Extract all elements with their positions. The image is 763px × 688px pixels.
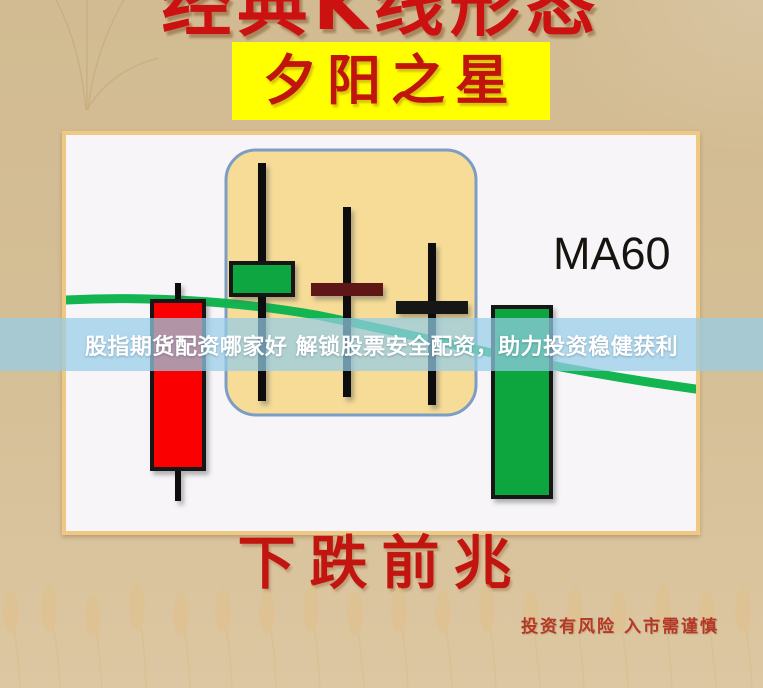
overlay-caption-text: 股指期货配资哪家好 解锁股票安全配资，助力投资稳健获利 <box>85 329 678 361</box>
risk-disclaimer: 投资有风险 入市需谨慎 <box>500 612 740 637</box>
banner-label: 夕阳之星 <box>263 54 519 108</box>
page-title: 经典K线形态 <box>0 0 763 40</box>
ma60-label: MA60 <box>553 231 671 276</box>
poster-canvas: 经典K线形态 夕阳之星 股说 <box>0 0 763 688</box>
candle-bullish-long-red <box>152 283 204 501</box>
banner-pattern-name: 夕阳之星 <box>232 42 550 120</box>
overlay-caption-bar: 股指期货配资哪家好 解锁股票安全配资，助力投资稳健获利 <box>0 318 763 371</box>
